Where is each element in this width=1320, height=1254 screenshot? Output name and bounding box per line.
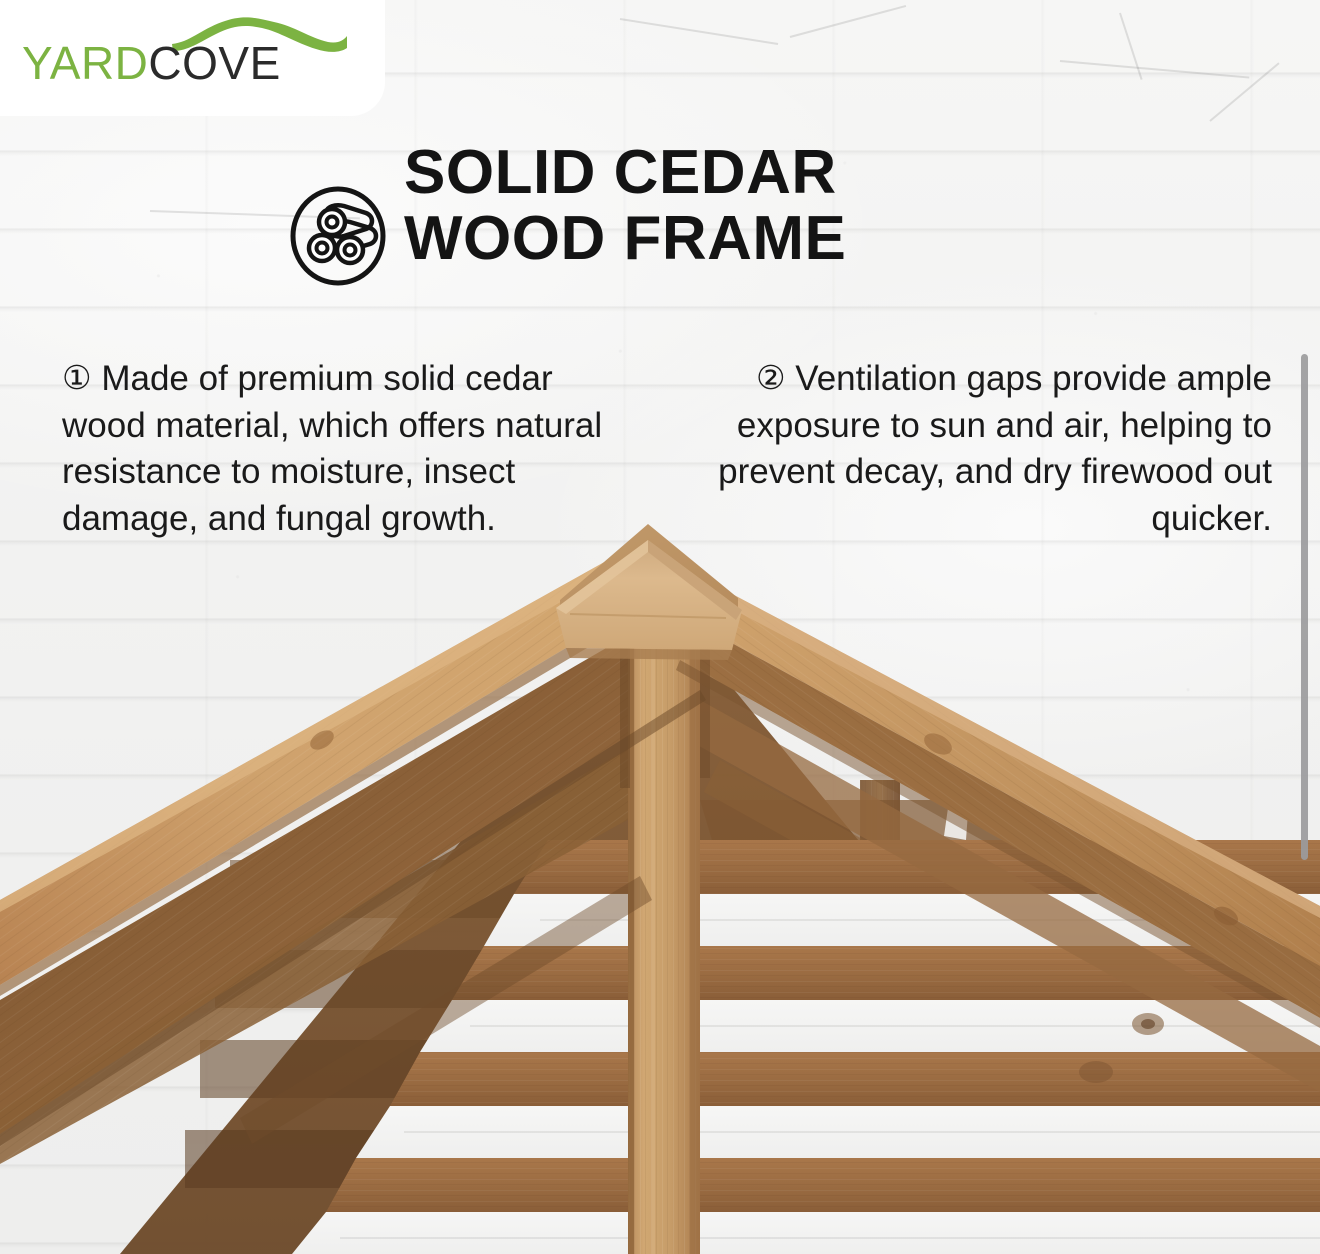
feature-number-2: ② [756, 359, 786, 396]
brand-logo: YARDCOVE [0, 0, 360, 100]
headline-block: SOLID CEDAR WOOD FRAME [286, 132, 1296, 288]
brand-wordmark: YARDCOVE [22, 36, 281, 90]
brand-wordmark-yard: YARD [22, 37, 148, 89]
feature-text-1: ① Made of premium solid cedar wood mater… [62, 356, 642, 542]
stacked-logs-icon [286, 184, 390, 288]
feature-number-1: ① [62, 359, 92, 396]
feature-body-2: Ventilation gaps provide ample exposure … [718, 359, 1272, 538]
page-title: SOLID CEDAR WOOD FRAME [404, 132, 846, 271]
brand-wordmark-cove: COVE [148, 37, 280, 89]
brand-logo-badge[interactable]: YARDCOVE [0, 0, 385, 116]
scrollbar-thumb[interactable] [1301, 354, 1308, 860]
feature-text-2: ② Ventilation gaps provide ample exposur… [702, 356, 1272, 542]
page-root: YARDCOVE SOLID CEDAR WOOD FRAME ① Made o… [0, 0, 1320, 1254]
feature-body-1: Made of premium solid cedar wood materia… [62, 359, 602, 538]
